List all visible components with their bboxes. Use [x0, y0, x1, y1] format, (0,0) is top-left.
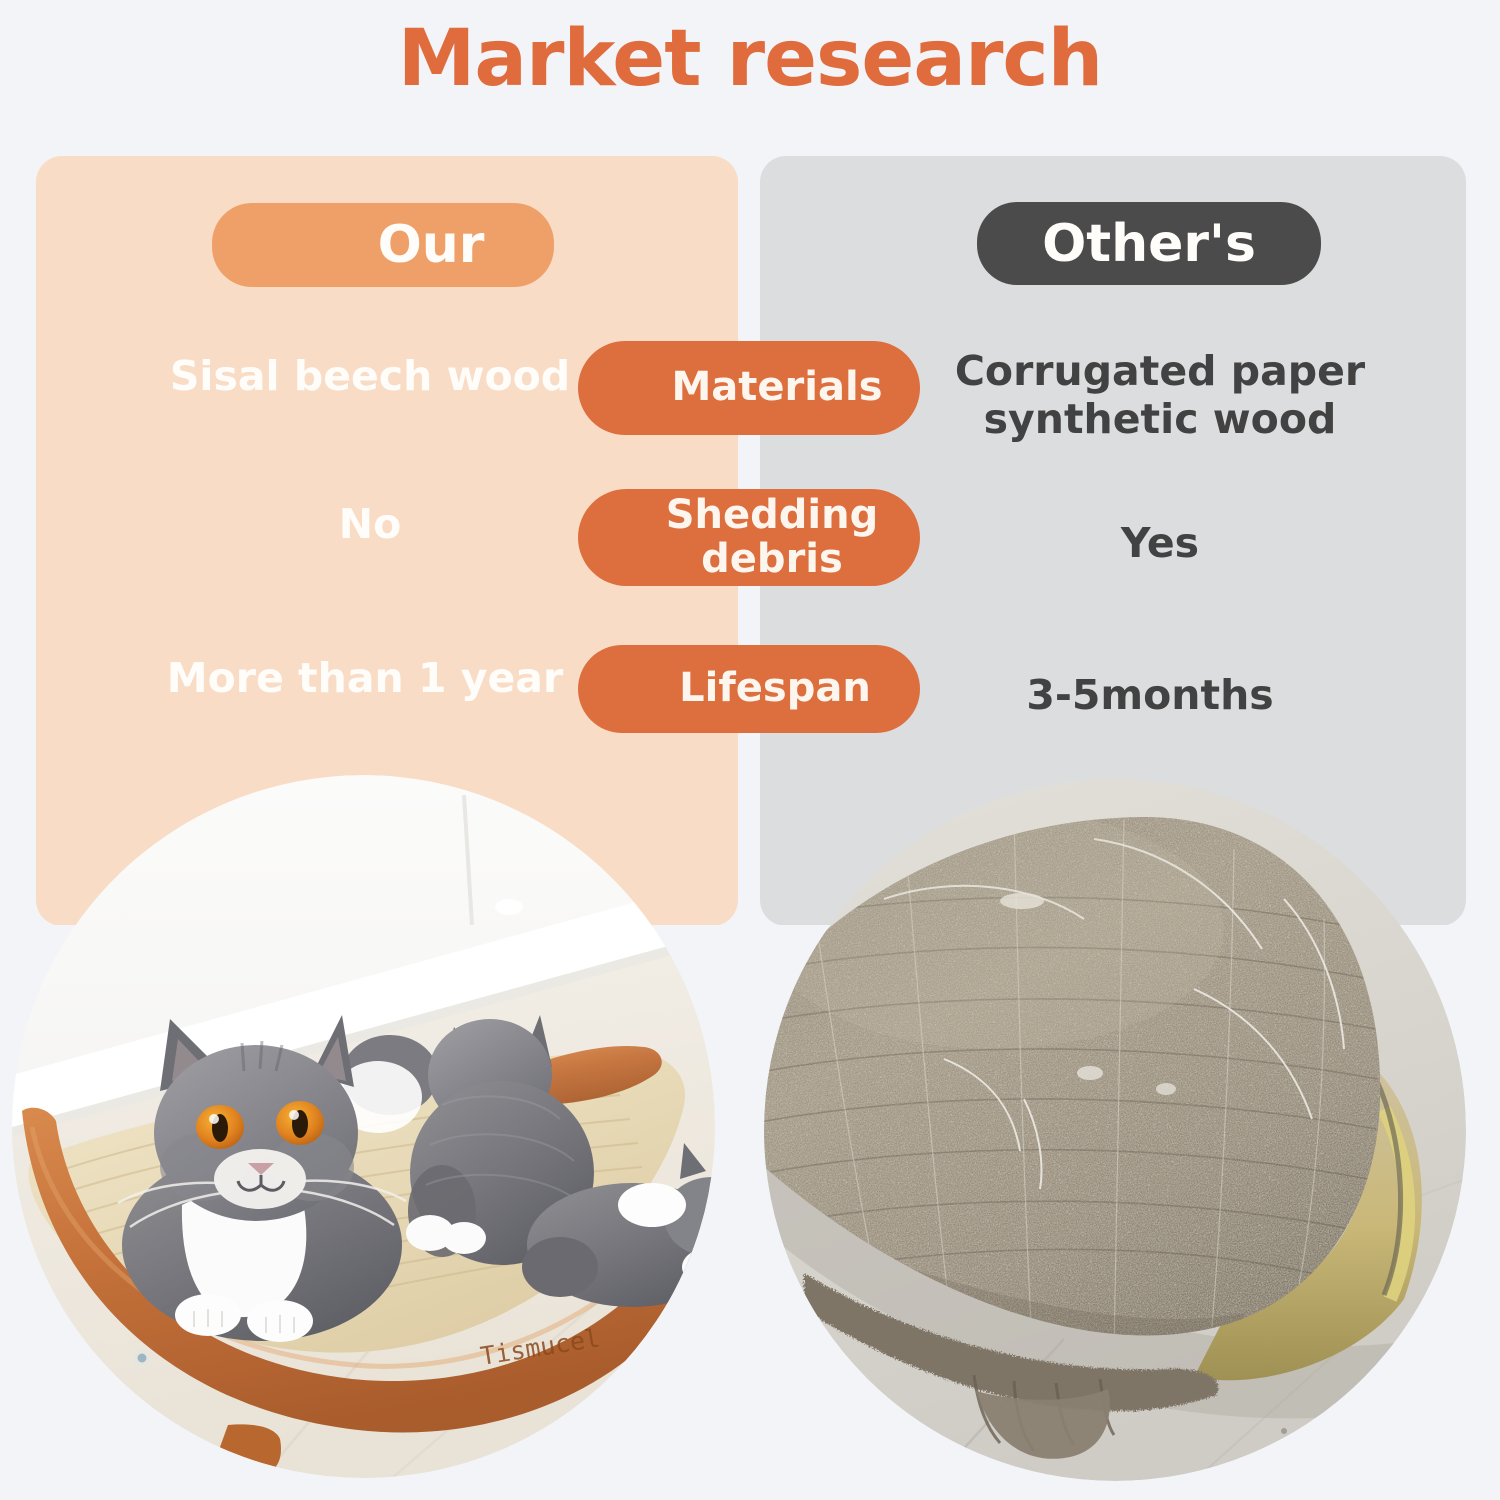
our-column-badge: Our: [212, 203, 554, 287]
criterion-label-shedding-debris: Shedding debris: [666, 494, 879, 580]
our-product-photo: Tismucel: [12, 775, 715, 1478]
criterion-label-shedding-debris-line2: debris: [701, 536, 843, 582]
criterion-pill-shedding-debris: Shedding debris: [578, 489, 920, 586]
criterion-label-lifespan: Lifespan: [679, 667, 871, 710]
our-product-photo-art: Tismucel: [12, 775, 715, 1478]
our-value-lifespan: More than 1 year: [150, 654, 580, 702]
our-value-materials: Sisal beech wood: [160, 352, 580, 400]
our-column-badge-label: Our: [378, 215, 485, 275]
criterion-pill-materials: Materials: [578, 341, 920, 435]
other-value-materials-line1: Corrugated paper: [930, 347, 1390, 395]
criterion-label-materials: Materials: [672, 366, 883, 409]
criterion-pill-lifespan: Lifespan: [578, 645, 920, 733]
other-value-lifespan: 3-5months: [930, 671, 1370, 719]
other-product-photo: [764, 779, 1466, 1481]
criterion-label-shedding-debris-line1: Shedding: [666, 492, 879, 538]
infographic-canvas: Market research Our Other's Sisal beech …: [0, 0, 1500, 1500]
other-column-badge: Other's: [977, 202, 1321, 285]
other-value-shedding-debris: Yes: [950, 519, 1370, 567]
page-title: Market research: [0, 14, 1500, 104]
other-value-materials: Corrugated paper synthetic wood: [930, 347, 1390, 444]
other-value-materials-line2: synthetic wood: [930, 395, 1390, 443]
other-product-photo-art: [764, 779, 1466, 1481]
our-value-shedding-debris: No: [160, 500, 580, 548]
other-column-badge-label: Other's: [1042, 214, 1256, 274]
